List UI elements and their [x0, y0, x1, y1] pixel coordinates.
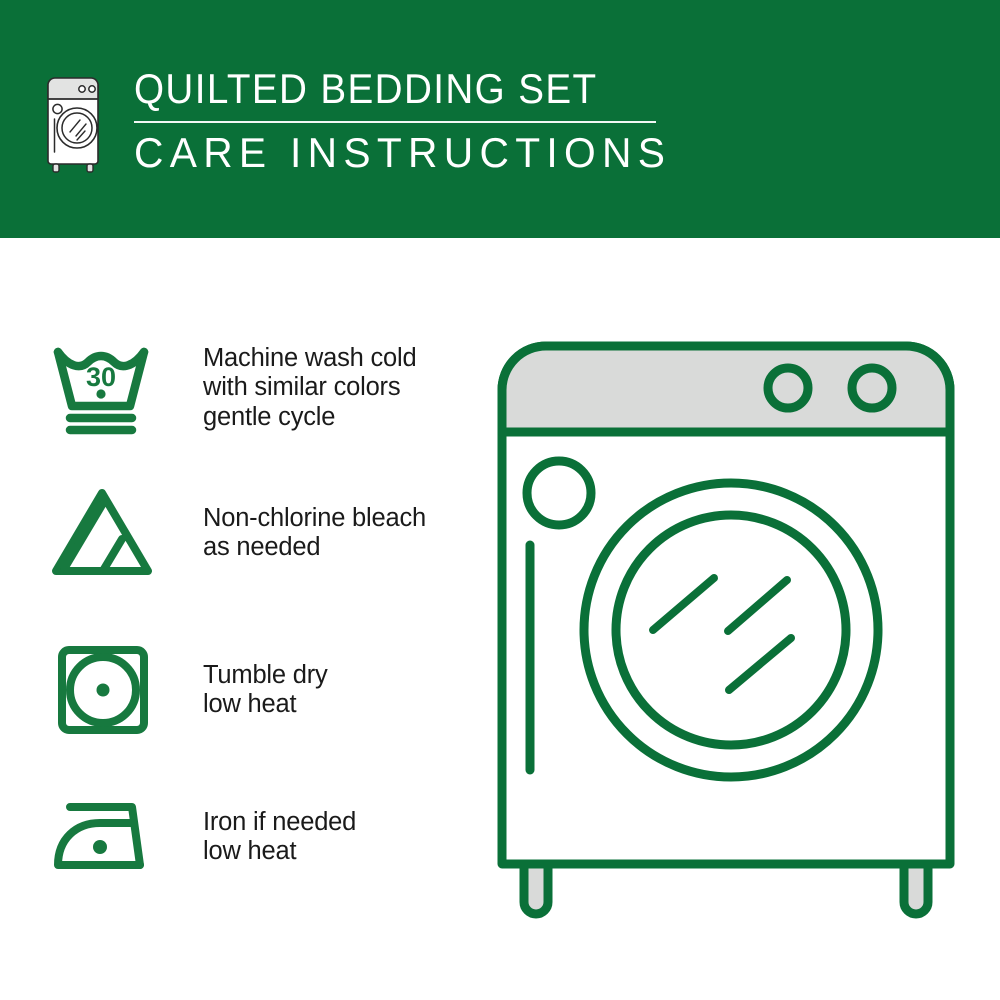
tumble-dry-low-heat-icon	[48, 640, 160, 740]
page-header: QUILTED BEDDING SET CARE INSTRUCTIONS	[0, 0, 1000, 238]
header-title-group: QUILTED BEDDING SET CARE INSTRUCTIONS	[134, 66, 688, 176]
care-instruction-list: 30 Machine wash cold with similar colors…	[0, 238, 500, 1000]
care-instructions-page: QUILTED BEDDING SET CARE INSTRUCTIONS 30	[0, 0, 1000, 1000]
care-text-tumble-dry: Tumble dry low heat	[203, 661, 328, 720]
page-title: QUILTED BEDDING SET	[134, 66, 644, 112]
header-content: QUILTED BEDDING SET CARE INSTRUCTIONS	[44, 66, 688, 176]
iron-low-heat-icon	[48, 793, 160, 881]
front-load-washing-machine-illustration	[486, 330, 976, 930]
care-row-tumble-dry: Tumble dry low heat	[48, 640, 328, 740]
care-text-bleach: Non-chlorine bleach as needed	[203, 504, 426, 563]
care-row-iron: Iron if needed low heat	[48, 793, 356, 881]
care-row-bleach: Non-chlorine bleach as needed	[48, 483, 426, 583]
knob-left	[768, 368, 808, 408]
care-row-wash: 30 Machine wash cold with similar colors…	[48, 336, 416, 440]
detergent-indicator-circle	[527, 461, 591, 525]
knob-right	[852, 368, 892, 408]
triangle-non-chlorine-bleach-icon	[48, 483, 160, 583]
care-text-iron: Iron if needed low heat	[203, 808, 356, 867]
washing-machine-icon	[44, 70, 106, 176]
wash-temperature-label: 30	[86, 362, 116, 392]
page-subtitle: CARE INSTRUCTIONS	[134, 130, 671, 176]
care-text-wash: Machine wash cold with similar colors ge…	[203, 344, 416, 433]
wash-tub-30-gentle-icon: 30	[48, 336, 160, 440]
title-divider	[134, 121, 656, 123]
